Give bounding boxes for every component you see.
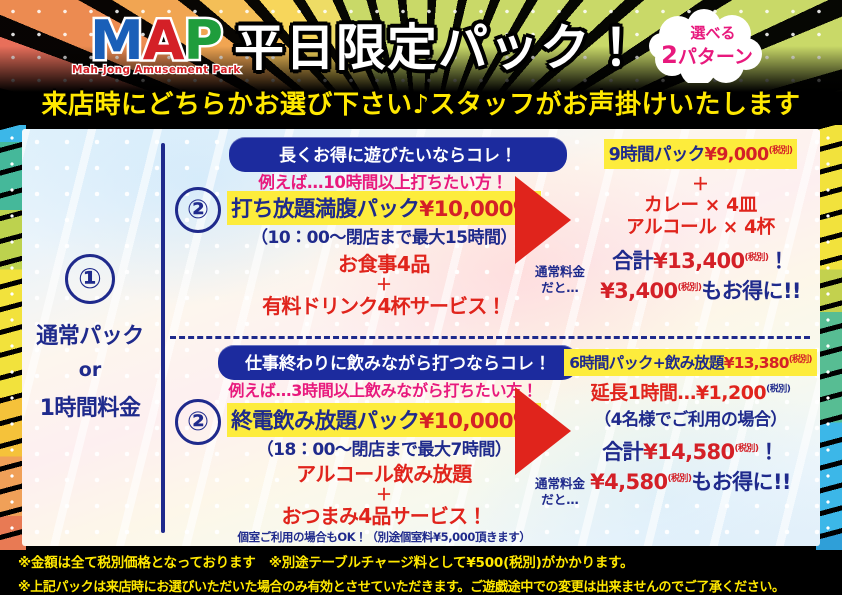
result-plus-1: ＋ xyxy=(583,170,818,195)
logo-wordmark: MAP xyxy=(72,14,240,68)
result-headline-tax-1: (税別) xyxy=(769,146,793,156)
offer-perk-plus-2: ＋ xyxy=(213,486,555,505)
header-subtitle: 来店時にどちらかお選び下さい♪スタッフがお声掛けいたします xyxy=(0,82,842,122)
result-total-price-2: ¥14,580 xyxy=(643,440,734,464)
footer-line-2: ※上記パックは来店時にお選びいただいた場合のみ有効とさせていただきます。ご遊戯途… xyxy=(18,576,842,595)
comparison-arrow-1 xyxy=(515,176,571,264)
result-total-tax-1: (税別) xyxy=(745,253,769,263)
option-one-number: ① xyxy=(65,254,115,304)
option-one-line2: or xyxy=(79,359,101,381)
badge-line1: 選べる xyxy=(690,26,735,41)
option-one-line1: 通常パック xyxy=(36,318,144,350)
vertical-divider xyxy=(161,143,165,533)
logo-letter-m: M xyxy=(90,14,143,68)
badge-text: 選べる 2パターン xyxy=(648,9,766,83)
offer-pack-name-2: 終電飲み放題パック xyxy=(231,409,419,434)
result-item-1b: アルコール × 4杯 xyxy=(583,217,818,239)
offer-hours-1: （10：00〜閉店まで最大15時間） xyxy=(219,223,549,248)
offer-example-2: 例えば…3時間以上飲みながら打ちたい方！ xyxy=(209,377,557,401)
offer-perks-2: アルコール飲み放題 ＋ おつまみ4品サービス！ 個室ご利用の場合もOK！（別途個… xyxy=(213,463,555,544)
option-one-column: ① 通常パック or 1時間料金 xyxy=(22,129,158,546)
pattern-badge: 選べる 2パターン xyxy=(648,9,766,83)
body-section: ① 通常パック or 1時間料金 長くお得に遊びたいならコレ！ ② 例えば…10… xyxy=(0,125,842,550)
result-extension-tax-2: (税別) xyxy=(766,385,790,395)
result-total-2: 合計¥14,580(税別)！ xyxy=(563,436,818,466)
offer-pack-highlight-2: 終電飲み放題パック¥10,000(税別) xyxy=(227,403,541,437)
offer-perk-a-1: お食事4品 xyxy=(219,253,549,276)
offer-pack-highlight-1: 打ち放題満腹パック¥10,000(税別) xyxy=(227,191,541,225)
offer-pack-line-2: 終電飲み放題パック¥10,000(税別) xyxy=(213,403,555,437)
option-one-line3: 1時間料金 xyxy=(40,390,141,422)
footer-notes: ※金額は全て税別価格となっております ※別途テーブルチャージ料として¥500(税… xyxy=(0,550,842,595)
offer-card-uchihoudai: 長くお得に遊びたいならコレ！ ② 例えば…10時間以上打ちたい方！ 打ち放題満腹… xyxy=(165,131,820,336)
result-total-label-2: 合計 xyxy=(602,440,643,464)
result-headline-hl-2: 6時間パック+飲み放題¥13,380(税別) xyxy=(564,349,817,376)
offer-number-1: ② xyxy=(175,187,221,233)
page-title: 平日限定パック！ xyxy=(228,6,648,82)
result-save-2: ¥4,580(税別)もお得に!! xyxy=(563,466,818,496)
map-logo: MAP Mah-jong Amusement Park xyxy=(72,14,240,88)
result-save-1: ¥3,400(税別)もお得に!! xyxy=(583,275,818,305)
result-save-price-1: ¥3,400 xyxy=(600,279,677,303)
result-save-tax-2: (税別) xyxy=(668,474,692,484)
result-headline-hl-1: 9時間パック¥9,000(税別) xyxy=(604,139,798,169)
result-save-text-2: もお得に!! xyxy=(691,470,791,494)
result-condition-2: （4名様でご利用の場合） xyxy=(563,405,818,430)
badge-unit: パターン xyxy=(678,46,753,68)
offer-pack-line-1: 打ち放題満腹パック¥10,000(税別) xyxy=(219,191,549,225)
result-total-label-1: 合計 xyxy=(612,249,653,273)
result-headline-tax-2: (税別) xyxy=(789,355,812,365)
badge-number: 2 xyxy=(661,41,678,69)
result-headline-price-1: ¥9,000 xyxy=(705,145,769,165)
logo-letter-a: A xyxy=(143,14,184,68)
offer-card-shuden: 仕事終わりに飲みながら打つならコレ！ ② 例えば…3時間以上飲みながら打ちたい方… xyxy=(165,339,820,544)
offer-result-2: 6時間パック+飲み放題¥13,380(税別) 延長1時間…¥1,200(税別) … xyxy=(563,349,818,496)
result-total-excl-2: ！ xyxy=(758,440,778,464)
result-extension-text-2: 延長1時間…¥1,200 xyxy=(591,382,767,404)
panel-content: ① 通常パック or 1時間料金 長くお得に遊びたいならコレ！ ② 例えば…10… xyxy=(22,129,820,546)
logo-letter-p: P xyxy=(183,14,222,68)
offer-pack-price-2: ¥10,000 xyxy=(419,409,513,434)
offer-hours-2: （18：00〜閉店まで最大7時間） xyxy=(213,435,555,460)
result-save-price-2: ¥4,580 xyxy=(590,470,667,494)
offer-pack-price-1: ¥10,000 xyxy=(419,197,513,222)
content-panel: ① 通常パック or 1時間料金 長くお得に遊びたいならコレ！ ② 例えば…10… xyxy=(22,129,820,546)
result-item-1a: カレー × 4皿 xyxy=(583,195,818,217)
result-total-excl-1: ！ xyxy=(768,249,788,273)
result-total-price-1: ¥13,400 xyxy=(653,249,744,273)
result-total-1: 合計¥13,400(税別)！ xyxy=(583,245,818,275)
logo-tagline: Mah-jong Amusement Park xyxy=(72,64,240,76)
offer-perk-a-2: アルコール飲み放題 xyxy=(213,463,555,486)
offer-pill-1: 長くお得に遊びたいならコレ！ xyxy=(229,137,567,172)
poster-root: MAP Mah-jong Amusement Park 平日限定パック！ 選べる… xyxy=(0,0,842,595)
offer-perk-plus-1: ＋ xyxy=(219,276,549,295)
result-total-tax-2: (税別) xyxy=(735,444,759,454)
footer-line-1: ※金額は全て税別価格となっております ※別途テーブルチャージ料として¥500(税… xyxy=(18,551,842,571)
offer-example-1: 例えば…10時間以上打ちたい方！ xyxy=(223,169,543,193)
offer-perks-1: お食事4品 ＋ 有料ドリンク4杯サービス！ xyxy=(219,253,549,318)
result-headline-2: 6時間パック+飲み放題 xyxy=(569,354,723,372)
result-extension-2: 延長1時間…¥1,200(税別) xyxy=(563,378,818,405)
result-headline-1: 9時間パック xyxy=(609,145,705,165)
badge-line2: 2パターン xyxy=(661,43,753,67)
offer-perk-b-2: おつまみ4品サービス！ xyxy=(213,505,555,528)
offer-pack-name-1: 打ち放題満腹パック xyxy=(231,197,419,222)
offer-result-1: 9時間パック¥9,000(税別) ＋ カレー × 4皿 アルコール × 4杯 合… xyxy=(583,139,818,305)
result-save-tax-1: (税別) xyxy=(678,283,702,293)
offer-perk-note-2: 個室ご利用の場合もOK！（別途個室料¥5,000頂きます） xyxy=(213,531,555,544)
result-save-text-1: もお得に!! xyxy=(701,279,801,303)
offer-pill-2: 仕事終わりに飲みながら打つならコレ！ xyxy=(218,345,578,380)
offer-perk-b-1: 有料ドリンク4杯サービス！ xyxy=(219,295,549,318)
result-headline-price-2: ¥13,380 xyxy=(724,354,789,372)
